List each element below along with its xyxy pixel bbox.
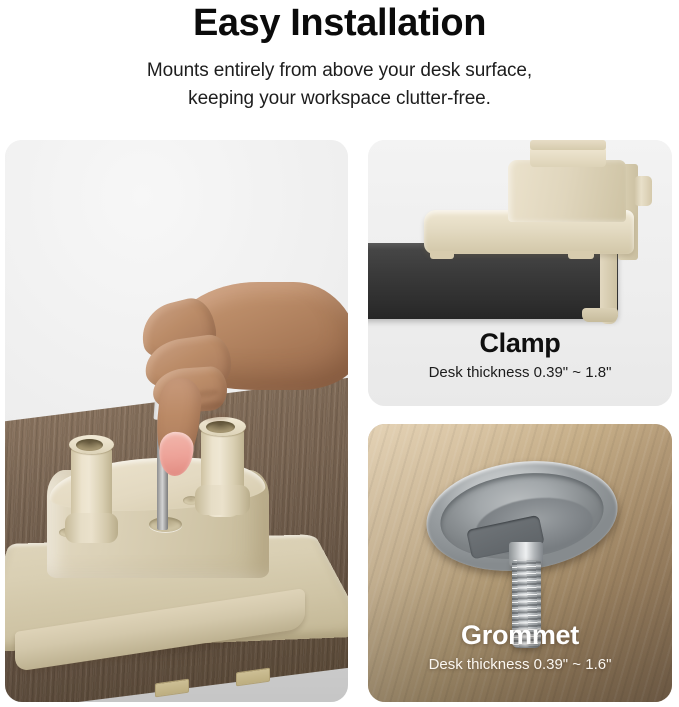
page-subtitle-line-1: Mounts entirely from above your desk sur… (0, 57, 679, 85)
mount-post-left (71, 435, 112, 540)
panel-clamp: Clamp Desk thickness 0.39" ~ 1.8" (368, 140, 672, 406)
page-title: Easy Installation (0, 1, 679, 45)
grommet-caption: Grommet Desk thickness 0.39" ~ 1.6" (368, 618, 672, 676)
page-subtitle: Mounts entirely from above your desk sur… (0, 57, 679, 113)
hand-illustration (123, 282, 348, 462)
infographic-root: Easy Installation Mounts entirely from a… (0, 0, 679, 707)
post-collar (65, 513, 118, 543)
clamp-tightening-knob (634, 176, 652, 206)
clamp-riser-block (508, 160, 626, 222)
page-subtitle-line-2: keeping your workspace clutter-free. (0, 85, 679, 113)
panel-top-mounted: Top-Mounted (5, 140, 348, 702)
clamp-caption: Clamp Desk thickness 0.39" ~ 1.8" (368, 326, 672, 384)
post-bore-opening (76, 439, 103, 451)
knuckle-crease (203, 413, 229, 422)
grommet-desk-thickness: Desk thickness 0.39" ~ 1.6" (368, 654, 672, 676)
post-collar (195, 485, 250, 515)
clamp-contact-pad (568, 251, 594, 259)
clamp-post-cap (530, 140, 606, 150)
grommet-title: Grommet (368, 618, 672, 652)
panel-grommet: Grommet Desk thickness 0.39" ~ 1.6" (368, 424, 672, 702)
clamp-jaw-foot (582, 308, 618, 322)
clamp-contact-pad (430, 251, 454, 259)
clamp-title: Clamp (368, 326, 672, 360)
header: Easy Installation Mounts entirely from a… (0, 0, 679, 132)
clamp-desk-thickness: Desk thickness 0.39" ~ 1.8" (368, 362, 672, 384)
